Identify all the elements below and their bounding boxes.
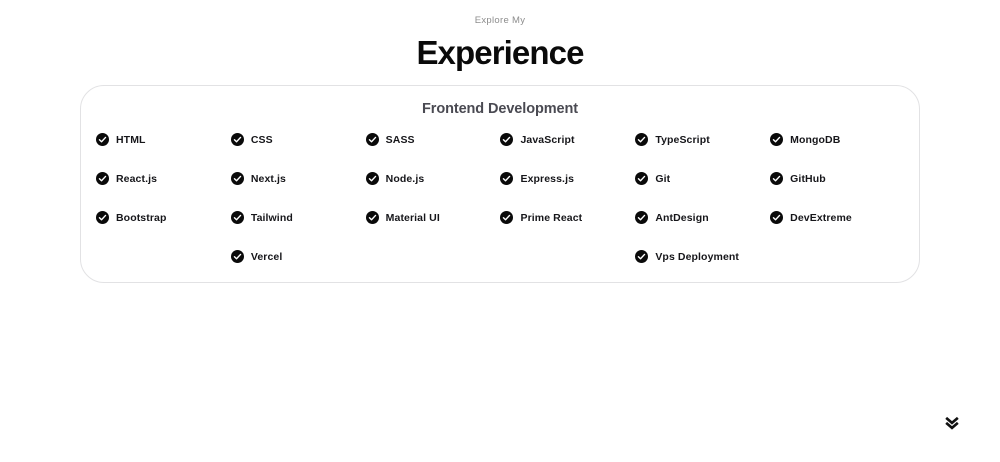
check-circle-icon [96, 172, 109, 185]
skill-item: CSS [231, 131, 366, 148]
check-circle-icon [366, 172, 379, 185]
skill-label: SASS [386, 134, 415, 146]
check-circle-icon [96, 133, 109, 146]
check-circle-icon [770, 211, 783, 224]
section-eyebrow: Explore My [0, 14, 1000, 28]
skill-item: TypeScript [635, 131, 770, 148]
skill-label: React.js [116, 173, 157, 185]
skill-label: Vercel [251, 251, 283, 263]
skill-label: CSS [251, 134, 273, 146]
check-circle-icon [231, 250, 244, 263]
skill-item: HTML [96, 131, 231, 148]
skill-label: Vps Deployment [655, 251, 739, 263]
check-circle-icon [231, 211, 244, 224]
skill-item: AntDesign [635, 209, 770, 226]
skill-label: Prime React [520, 212, 582, 224]
skill-item: Tailwind [231, 209, 366, 226]
skill-label: Bootstrap [116, 212, 166, 224]
check-circle-icon [635, 211, 648, 224]
skill-item: Bootstrap [96, 209, 231, 226]
skill-label: AntDesign [655, 212, 708, 224]
check-circle-icon [500, 172, 513, 185]
skills-grid: HTMLCSSSASSJavaScriptTypeScriptMongoDBRe… [81, 131, 919, 265]
skill-label: GitHub [790, 173, 826, 185]
skill-item: Git [635, 170, 770, 187]
skill-item: Material UI [366, 209, 501, 226]
check-circle-icon [231, 172, 244, 185]
skill-label: Material UI [386, 212, 440, 224]
skill-label: Next.js [251, 173, 286, 185]
skill-item: Next.js [231, 170, 366, 187]
skill-label: HTML [116, 134, 146, 146]
skill-label: MongoDB [790, 134, 840, 146]
skill-item: Express.js [500, 170, 635, 187]
skill-label: DevExtreme [790, 212, 852, 224]
skill-label: Tailwind [251, 212, 293, 224]
skill-label: Node.js [386, 173, 425, 185]
section-header: Explore My Experience [0, 0, 1000, 73]
check-circle-icon [231, 133, 244, 146]
frontend-development-card: Frontend Development HTMLCSSSASSJavaScri… [80, 85, 920, 283]
skill-item: React.js [96, 170, 231, 187]
check-circle-icon [635, 250, 648, 263]
check-circle-icon [770, 172, 783, 185]
scroll-down-button[interactable] [942, 412, 962, 432]
skill-item: DevExtreme [770, 209, 905, 226]
skill-item: Node.js [366, 170, 501, 187]
page-title: Experience [0, 33, 1000, 73]
skill-item: GitHub [770, 170, 905, 187]
check-circle-icon [500, 211, 513, 224]
experience-section: Explore My Experience Frontend Developme… [0, 0, 1000, 462]
skill-item: JavaScript [500, 131, 635, 148]
skill-item: Vps Deployment [635, 248, 770, 265]
check-circle-icon [366, 133, 379, 146]
skill-item: SASS [366, 131, 501, 148]
skill-item: Vercel [231, 248, 366, 265]
skill-label: JavaScript [520, 134, 574, 146]
skill-item: Prime React [500, 209, 635, 226]
check-circle-icon [366, 211, 379, 224]
skill-label: Express.js [520, 173, 574, 185]
check-circle-icon [635, 172, 648, 185]
skill-label: TypeScript [655, 134, 709, 146]
skill-label: Git [655, 173, 670, 185]
check-circle-icon [770, 133, 783, 146]
check-circle-icon [500, 133, 513, 146]
card-title: Frontend Development [81, 101, 919, 117]
chevron-double-down-icon [942, 412, 962, 432]
skill-item: MongoDB [770, 131, 905, 148]
check-circle-icon [96, 211, 109, 224]
check-circle-icon [635, 133, 648, 146]
